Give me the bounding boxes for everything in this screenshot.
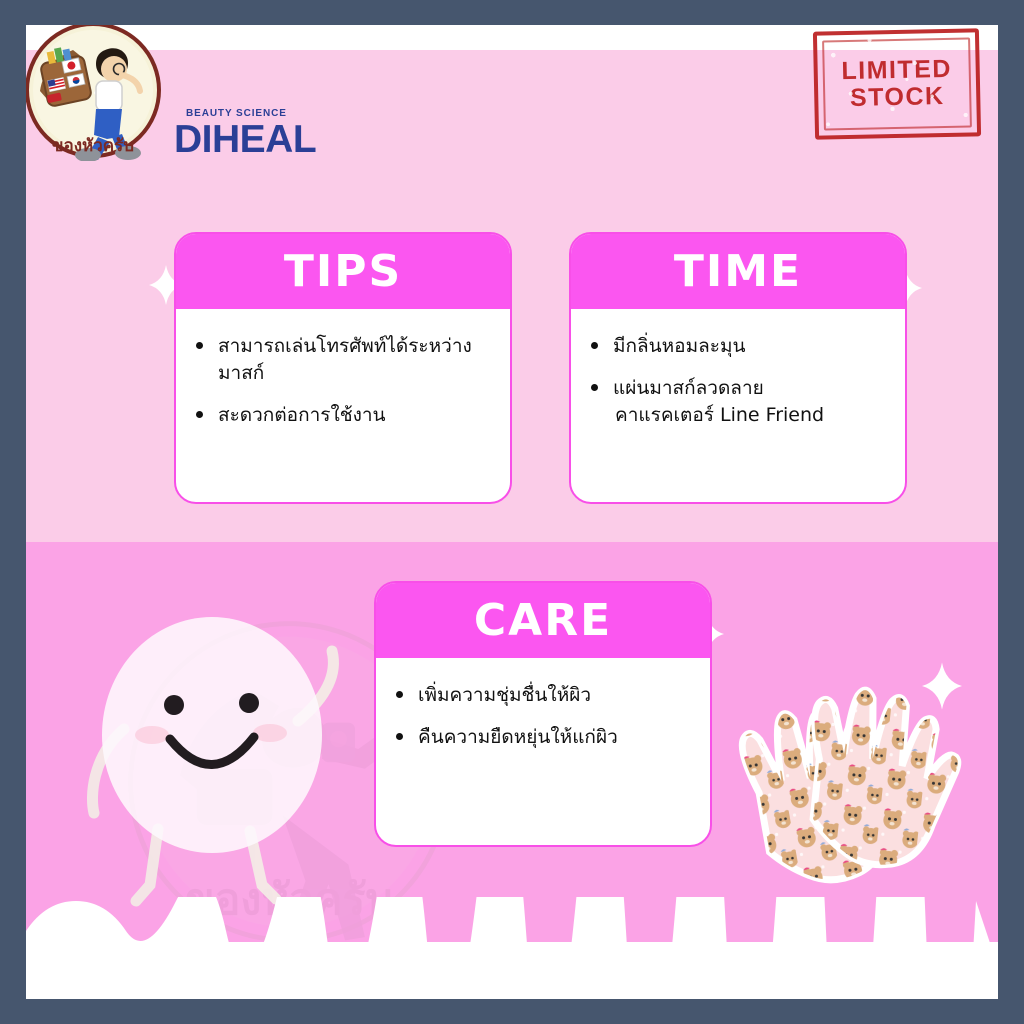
limited-stock-stamp: LIMITED STOCK xyxy=(813,28,981,139)
info-card-tips: TIPS สามารถเล่นโทรศัพท์ได้ระหว่างมาสก์ ส… xyxy=(174,232,512,504)
shopper-badge-logo-icon: ของหัวครับ xyxy=(26,25,164,161)
list-item: สามารถเล่นโทรศัพท์ได้ระหว่างมาสก์ xyxy=(194,333,492,387)
bullet-text: แผ่นมาสก์ลวดลาย xyxy=(613,377,764,399)
card-title-time: TIME xyxy=(674,250,802,294)
list-item: แผ่นมาสก์ลวดลาย คาแรคเตอร์ Line Friend xyxy=(589,375,887,429)
list-item: เพิ่มความชุ่มชื่นให้ผิว xyxy=(394,682,692,709)
bullet-text: สะดวกต่อการใช้งาน xyxy=(218,404,386,426)
card-header-tips: TIPS xyxy=(176,234,510,309)
card-title-tips: TIPS xyxy=(284,250,402,294)
bullet-list-time: มีกลิ่นหอมละมุน แผ่นมาสก์ลวดลาย คาแรคเตอ… xyxy=(589,333,887,429)
stamp-line-1: LIMITED xyxy=(841,56,952,85)
bullet-list-care: เพิ่มความชุ่มชื่นให้ผิว คืนความยืดหยุ่นใ… xyxy=(394,682,692,751)
brand-name: DIHEAL xyxy=(174,120,404,159)
bear-pattern-hand-mask-gloves-icon xyxy=(712,637,980,927)
scalloped-wave-divider-icon xyxy=(26,897,998,967)
bullet-text-continued: คาแรคเตอร์ Line Friend xyxy=(613,402,887,429)
card-header-time: TIME xyxy=(571,234,905,309)
bullet-text: เพิ่มความชุ่มชื่นให้ผิว xyxy=(418,684,591,706)
bullet-text: คืนความยืดหยุ่นให้แก่ผิว xyxy=(418,726,618,748)
info-card-time: TIME มีกลิ่นหอมละมุน แผ่นมาสก์ลวดลาย คาแ… xyxy=(569,232,907,504)
info-card-care: CARE เพิ่มความชุ่มชื่นให้ผิว คืนความยืดห… xyxy=(374,581,712,847)
list-item: คืนความยืดหยุ่นให้แก่ผิว xyxy=(394,724,692,751)
poster-canvas: ของหัวครับ xyxy=(26,25,998,999)
card-body-care: เพิ่มความชุ่มชื่นให้ผิว คืนความยืดหยุ่นใ… xyxy=(376,658,710,776)
brand-wordmark: BEAUTY SCIENCE DIHEAL xyxy=(174,109,404,159)
card-body-time: มีกลิ่นหอมละมุน แผ่นมาสก์ลวดลาย คาแรคเตอ… xyxy=(571,309,905,454)
card-title-care: CARE xyxy=(474,599,612,643)
poster-stage: ของหัวครับ xyxy=(0,0,1024,1024)
bullet-text: สามารถเล่นโทรศัพท์ได้ระหว่างมาสก์ xyxy=(218,335,472,384)
bullet-list-tips: สามารถเล่นโทรศัพท์ได้ระหว่างมาสก์ สะดวกต… xyxy=(194,333,492,429)
svg-text:ของหัวครับ: ของหัวครับ xyxy=(52,136,134,156)
list-item: สะดวกต่อการใช้งาน xyxy=(194,402,492,429)
card-header-care: CARE xyxy=(376,583,710,658)
stamp-line-2: STOCK xyxy=(850,83,945,112)
card-body-tips: สามารถเล่นโทรศัพท์ได้ระหว่างมาสก์ สะดวกต… xyxy=(176,309,510,454)
list-item: มีกลิ่นหอมละมุน xyxy=(589,333,887,360)
bullet-text: มีกลิ่นหอมละมุน xyxy=(613,335,745,357)
